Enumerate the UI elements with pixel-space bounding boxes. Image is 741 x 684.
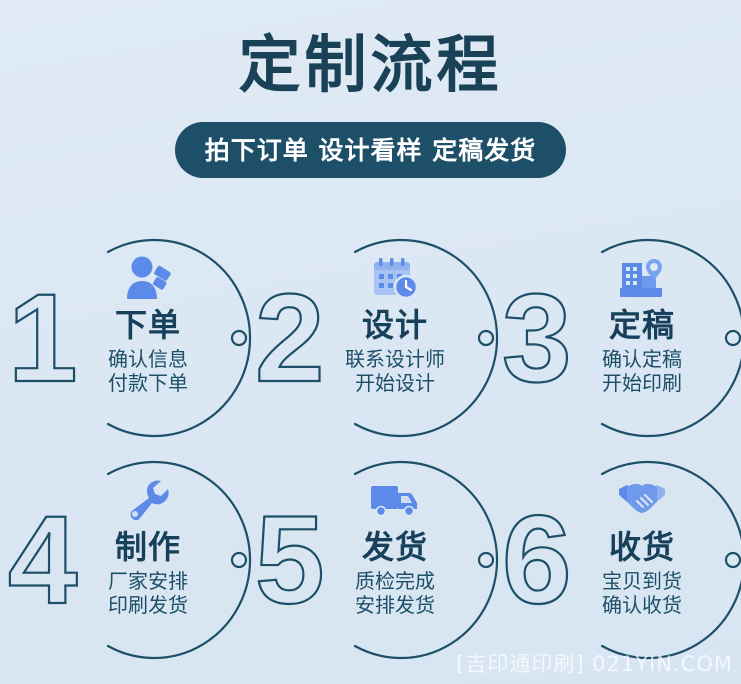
process-step-5[interactable]: 5 发货 质检完成 安排发货 (247, 450, 494, 672)
process-steps-grid: 1 下单 确认信息 付款下单 2 (0, 228, 741, 662)
step-desc-4: 厂家安排 印刷发货 (108, 569, 188, 617)
process-step-3[interactable]: 3 定稿 确认定稿 开始印 (494, 228, 741, 450)
process-step-4[interactable]: 4 制作 厂家安排 印刷发货 (0, 450, 247, 672)
step-desc-line1: 确认信息 (108, 347, 188, 371)
step-desc-line1: 宝贝到货 (602, 569, 682, 593)
step-label-3: 定稿 (609, 308, 675, 343)
step-content-6: 收货 宝贝到货 确认收货 (562, 468, 722, 654)
page-title: 定制流程 (0, 34, 741, 96)
process-step-6[interactable]: 6 收货 宝贝到货 确认收货 (494, 450, 741, 672)
subtitle-pill: 拍下订单 设计看样 定稿发货 (175, 122, 566, 178)
wrench-icon (123, 474, 173, 526)
calendar-clock-icon (370, 252, 420, 304)
step-content-4: 制作 厂家安排 印刷发货 (68, 468, 228, 654)
delivery-truck-icon (368, 474, 422, 526)
step-desc-line2: 开始设计 (345, 371, 445, 395)
step-desc-1: 确认信息 付款下单 (108, 347, 188, 395)
person-with-card-icon (123, 252, 173, 304)
handshake-icon (615, 474, 669, 526)
step-content-3: 定稿 确认定稿 开始印刷 (562, 246, 722, 432)
step-desc-line2: 确认收货 (602, 593, 682, 617)
step-label-1: 下单 (115, 308, 181, 343)
factory-building-icon (616, 252, 668, 304)
step-desc-line2: 开始印刷 (602, 371, 682, 395)
step-desc-2: 联系设计师 开始设计 (345, 347, 445, 395)
watermark: [吉印通印刷] 021YIN.COM (456, 648, 733, 678)
step-desc-line2: 印刷发货 (108, 593, 188, 617)
step-desc-line1: 联系设计师 (345, 347, 445, 371)
step-label-4: 制作 (115, 530, 181, 565)
step-label-2: 设计 (362, 308, 428, 343)
process-step-2[interactable]: 2 设计 联系设计师 (247, 228, 494, 450)
step-desc-6: 宝贝到货 确认收货 (602, 569, 682, 617)
step-desc-line1: 确认定稿 (602, 347, 682, 371)
process-step-1[interactable]: 1 下单 确认信息 付款下单 (0, 228, 247, 450)
step-desc-3: 确认定稿 开始印刷 (602, 347, 682, 395)
step-desc-line1: 质检完成 (355, 569, 435, 593)
step-label-6: 收货 (609, 530, 675, 565)
step-desc-line1: 厂家安排 (108, 569, 188, 593)
step-desc-line2: 安排发货 (355, 593, 435, 617)
step-content-2: 设计 联系设计师 开始设计 (315, 246, 475, 432)
page-header: 定制流程 拍下订单 设计看样 定稿发货 (0, 0, 741, 178)
step-desc-5: 质检完成 安排发货 (355, 569, 435, 617)
step-content-1: 下单 确认信息 付款下单 (68, 246, 228, 432)
step-label-5: 发货 (362, 530, 428, 565)
step-content-5: 发货 质检完成 安排发货 (315, 468, 475, 654)
step-desc-line2: 付款下单 (108, 371, 188, 395)
